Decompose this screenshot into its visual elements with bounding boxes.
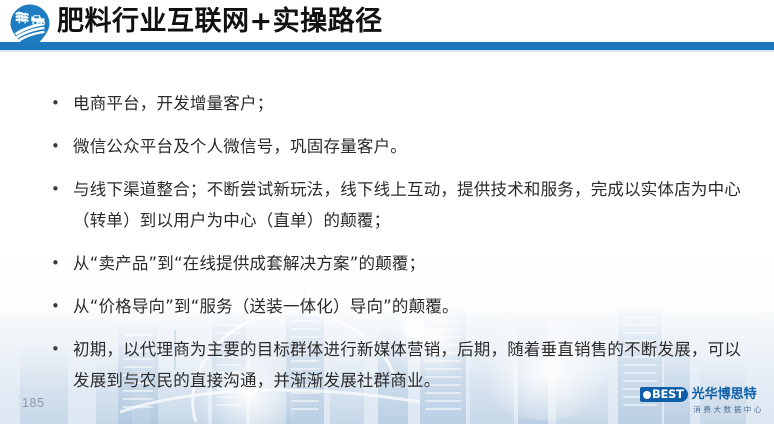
list-item: 从“价格导向”到“服务（送装一体化）导向”的颠覆。 — [48, 291, 748, 322]
best-circle-glyph-icon — [643, 391, 651, 399]
page-number: 185 — [22, 396, 45, 410]
list-item: 从“卖产品”到“在线提供成套解决方案”的颠覆； — [48, 248, 748, 279]
title-divider-rule — [0, 42, 774, 50]
slide-canvas: 肥料行业互联网+实操路径 电商平台，开发增量客户； 微信公众平台及个人微信号，巩… — [0, 0, 774, 424]
list-item: 与线下渠道整合；不断尝试新玩法，线下线上互动，提供技术和服务，完成以实体店为中心… — [48, 174, 748, 236]
list-item: 电商平台，开发增量客户； — [48, 88, 748, 119]
bullet-list: 电商平台，开发增量客户； 微信公众平台及个人微信号，巩固存量客户。 与线下渠道整… — [48, 88, 748, 408]
page-title: 肥料行业互联网+实操路径 — [57, 5, 383, 39]
brand-logo-row: BEST 光华博思特 — [640, 386, 764, 403]
brand-subtitle: 消费大数据中心 — [640, 405, 764, 415]
best-wordmark: BEST — [640, 387, 688, 402]
list-item: 微信公众平台及个人微信号，巩固存量客户。 — [48, 131, 748, 162]
brand-name: 光华博思特 — [692, 387, 757, 402]
title-divider-shadow — [0, 50, 774, 52]
best-mark-text: BEST — [652, 387, 684, 401]
brand-logo: BEST 光华博思特 消费大数据中心 — [640, 386, 764, 416]
